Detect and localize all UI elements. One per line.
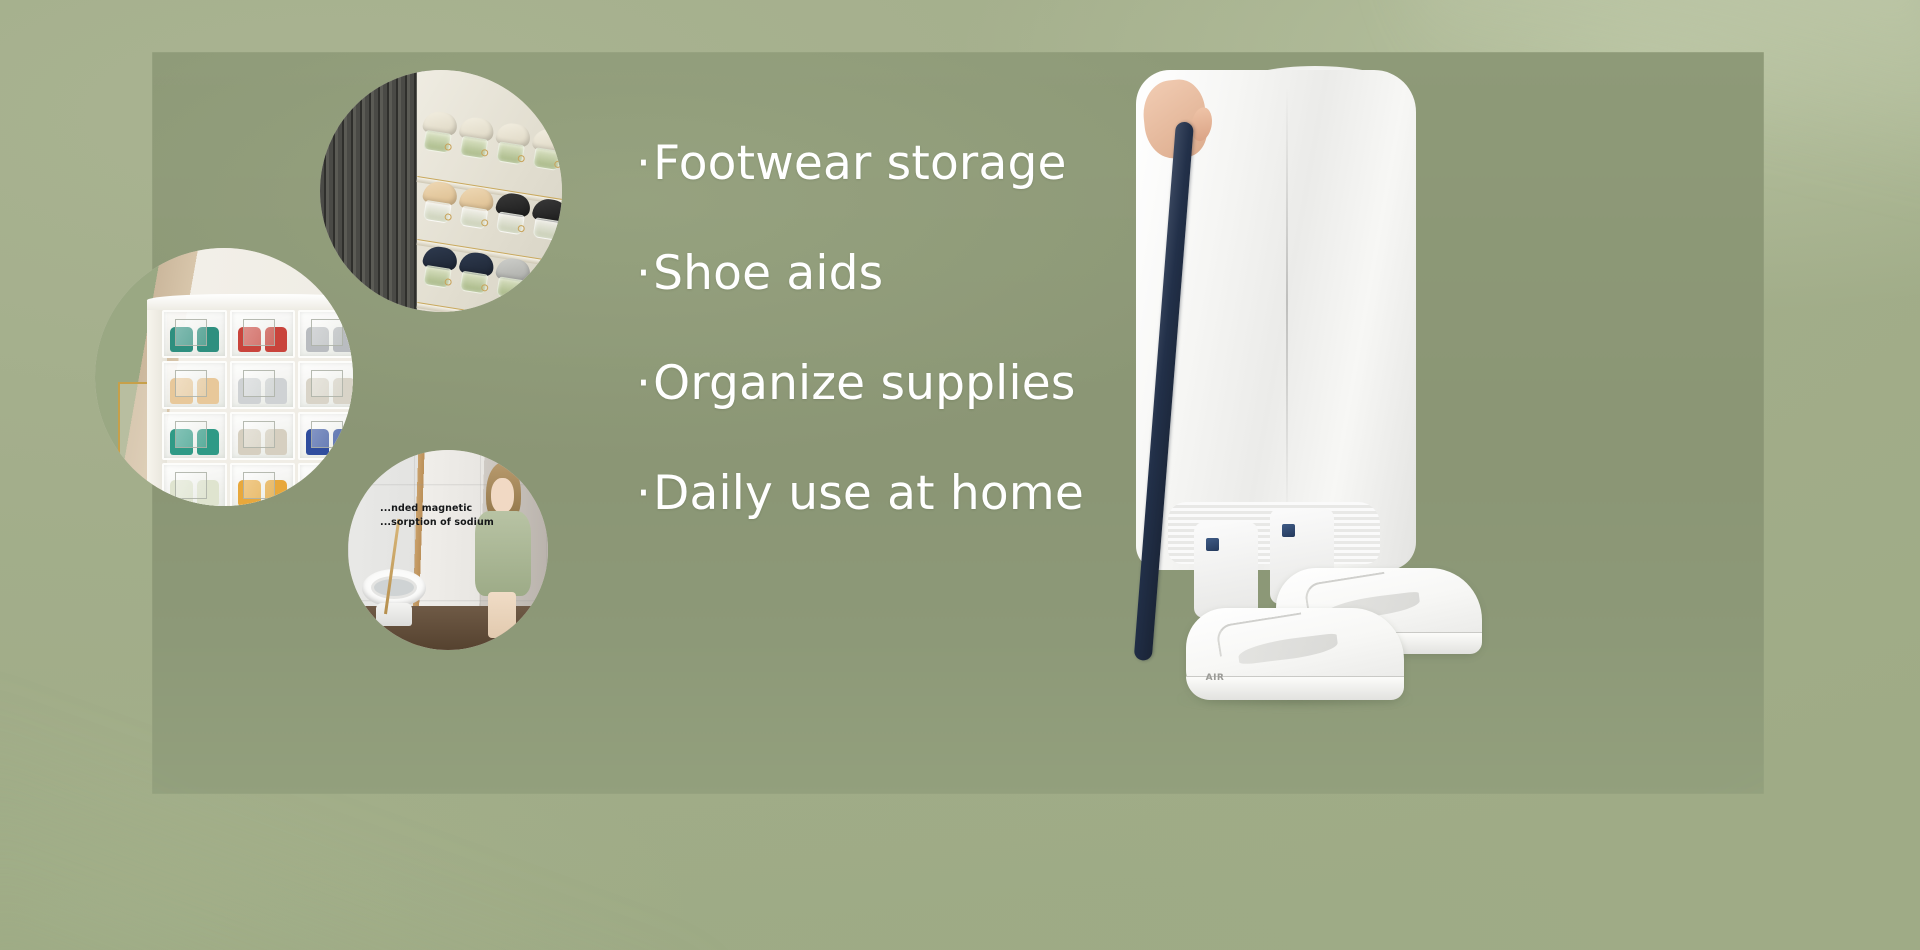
shoe-box (162, 310, 227, 358)
shoe-box (230, 412, 295, 460)
shoe-item (419, 179, 459, 224)
person-figure (468, 462, 536, 638)
shoe-item (529, 197, 562, 242)
sneaker-brand-label: AIR (1206, 673, 1225, 683)
toilet (362, 558, 426, 626)
feature-label: Daily use at home (653, 466, 1084, 521)
bullet-icon: · (636, 136, 651, 191)
model-photo-shoehorn-user: AIR (1090, 70, 1520, 710)
shoe-box (230, 361, 295, 409)
bullet-icon: · (636, 246, 651, 301)
shoe-box (230, 310, 295, 358)
shoe-box (230, 463, 295, 506)
promo-banner: ...nded magnetic ...sorption of sodium ·… (0, 0, 1920, 950)
sock (1194, 522, 1258, 618)
bathroom-caption-line-1: ...nded magnetic (380, 502, 548, 516)
shoe-item (492, 121, 532, 166)
feature-label: Footwear storage (653, 136, 1066, 191)
bullet-icon: · (636, 356, 651, 411)
shoe-item (456, 115, 496, 160)
bathroom-caption-line-2: ...sorption of sodium (380, 516, 548, 530)
shoe-item (492, 256, 532, 301)
feature-label: Shoe aids (653, 246, 883, 301)
shoe-box (162, 412, 227, 460)
feature-label: Organize supplies (653, 356, 1075, 411)
shoe-box (162, 361, 227, 409)
shoe-item (456, 185, 496, 230)
shoe-box-grid (162, 310, 353, 506)
shoe-item (419, 245, 459, 290)
shoe-box (298, 463, 353, 506)
shoe-item (492, 191, 532, 236)
shoe-box (298, 310, 353, 358)
photo-transparent-shoe-boxes (95, 248, 353, 506)
shoe-box (298, 361, 353, 409)
shoe-item (529, 262, 562, 307)
shoe-item (529, 127, 562, 172)
bathroom-caption: ...nded magnetic ...sorption of sodium (380, 502, 548, 530)
shoe-box (298, 412, 353, 460)
bullet-icon: · (636, 466, 651, 521)
photo-shoe-rack-shelves (320, 70, 562, 312)
photo-bathroom-cleaning: ...nded magnetic ...sorption of sodium (348, 450, 548, 650)
cabinet-top-panel (147, 294, 353, 309)
shoe-box (162, 463, 227, 506)
sneaker-left: AIR (1186, 608, 1404, 700)
shoe-item (419, 109, 459, 154)
shoe-item (456, 251, 496, 296)
